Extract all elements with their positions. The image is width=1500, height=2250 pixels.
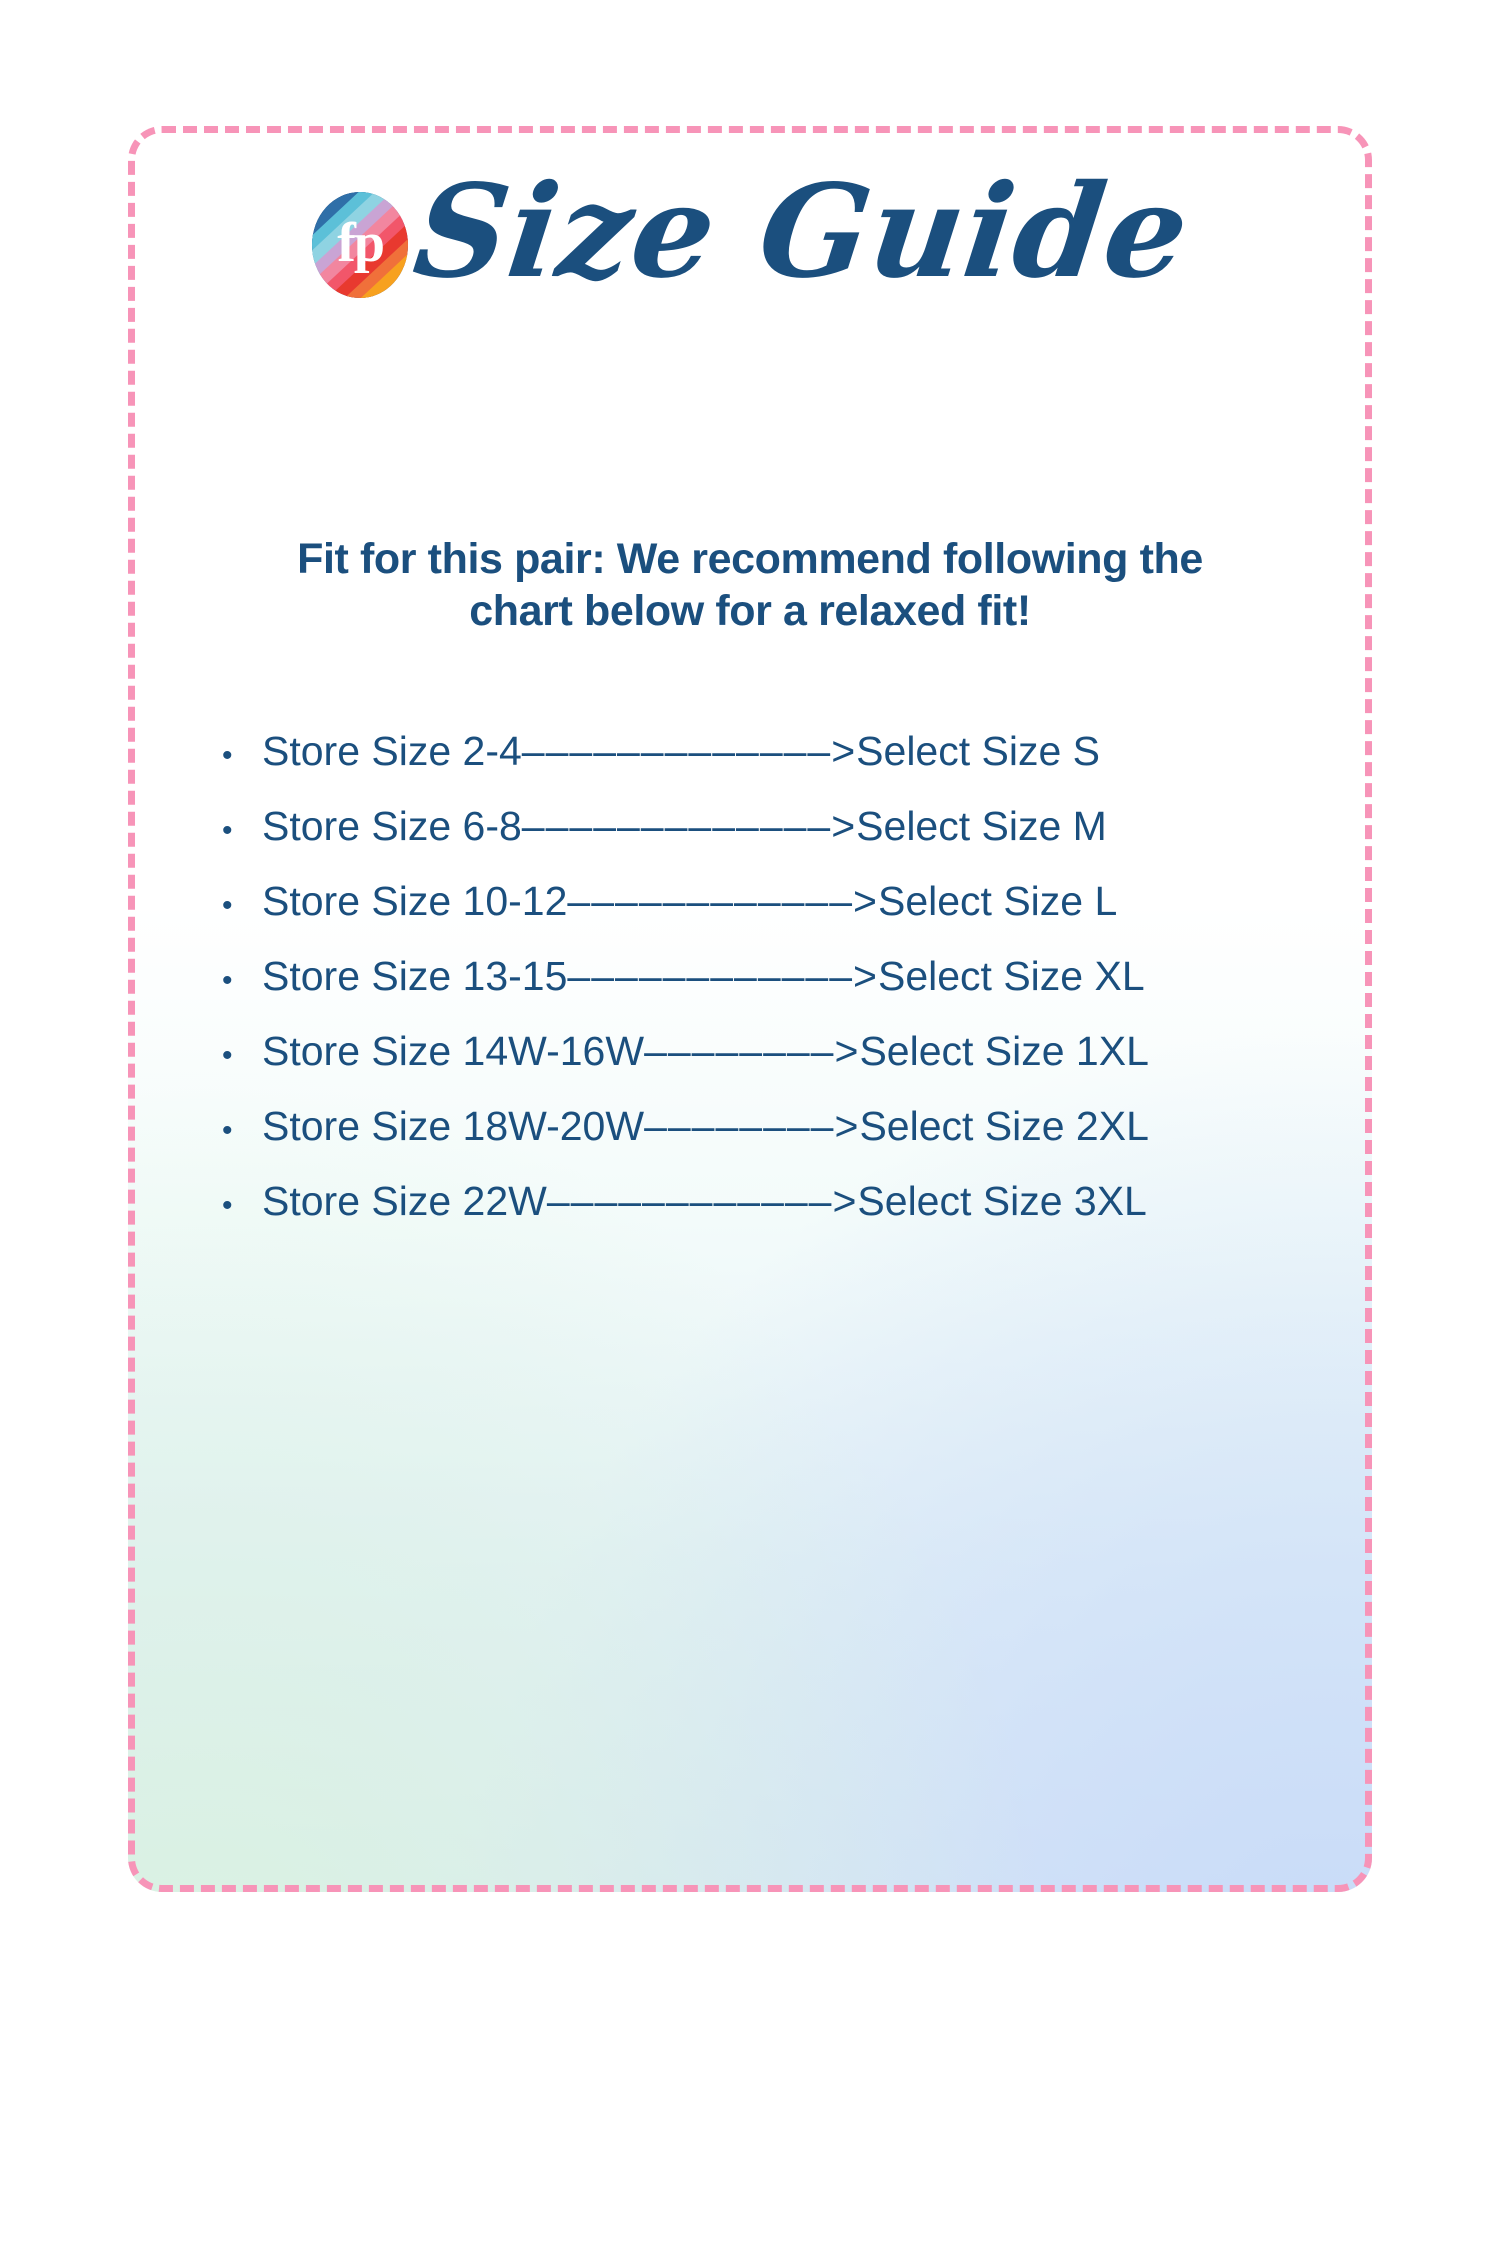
select-size-label: Select Size XL xyxy=(878,939,1145,1014)
dashed-arrow-icon: ––––––––––––> xyxy=(547,1164,858,1239)
store-size-label: Store Size 2-4 xyxy=(262,714,522,789)
page-title: Size Guide xyxy=(408,168,1195,296)
select-size-label: Select Size 2XL xyxy=(859,1089,1148,1164)
subtitle-line-2: chart below for a relaxed fit! xyxy=(190,585,1310,637)
dashed-arrow-icon: ––––––––> xyxy=(644,1089,859,1164)
select-size-label: Select Size M xyxy=(856,789,1107,864)
store-size-label: Store Size 22W xyxy=(262,1164,547,1239)
dashed-arrow-icon: –––––––––––––> xyxy=(522,789,856,864)
bullet-icon: • xyxy=(222,1018,262,1093)
store-size-label: Store Size 13-15 xyxy=(262,939,567,1014)
bullet-icon: • xyxy=(222,718,262,793)
dashed-arrow-icon: ––––––––––––> xyxy=(567,864,878,939)
brand-header: fp Size Guide xyxy=(0,166,1500,298)
bullet-icon: • xyxy=(222,1168,262,1243)
logo-letters: fp xyxy=(312,192,408,298)
select-size-label: Select Size 1XL xyxy=(859,1014,1148,1089)
store-size-label: Store Size 18W-20W xyxy=(262,1089,644,1164)
select-size-label: Select Size L xyxy=(878,864,1117,939)
size-row: •Store Size 22W––––––––––––> Select Size… xyxy=(222,1164,1342,1239)
bullet-icon: • xyxy=(222,793,262,868)
size-row: •Store Size 14W-16W ––––––––> Select Siz… xyxy=(222,1014,1342,1089)
size-row: •Store Size 13-15 ––––––––––––> Select S… xyxy=(222,939,1342,1014)
fp-rainbow-circle-logo-icon: fp xyxy=(312,192,408,298)
size-row: •Store Size 18W-20W ––––––––> Select Siz… xyxy=(222,1089,1342,1164)
bullet-icon: • xyxy=(222,1093,262,1168)
dashed-arrow-icon: ––––––––> xyxy=(644,1014,859,1089)
size-conversion-list: •Store Size 2-4 –––––––––––––> Select Si… xyxy=(222,714,1342,1239)
select-size-label: Select Size 3XL xyxy=(857,1164,1146,1239)
dashed-arrow-icon: ––––––––––––> xyxy=(567,939,878,1014)
fit-recommendation-text: Fit for this pair: We recommend followin… xyxy=(190,533,1310,638)
select-size-label: Select Size S xyxy=(856,714,1100,789)
dashed-arrow-icon: –––––––––––––> xyxy=(522,714,856,789)
bullet-icon: • xyxy=(222,868,262,943)
size-row: •Store Size 2-4 –––––––––––––> Select Si… xyxy=(222,714,1342,789)
size-row: •Store Size 10-12 ––––––––––––> Select S… xyxy=(222,864,1342,939)
store-size-label: Store Size 14W-16W xyxy=(262,1014,644,1089)
store-size-label: Store Size 10-12 xyxy=(262,864,567,939)
bullet-icon: • xyxy=(222,943,262,1018)
store-size-label: Store Size 6-8 xyxy=(262,789,522,864)
size-row: •Store Size 6-8 –––––––––––––> Select Si… xyxy=(222,789,1342,864)
size-guide-page: fp Size Guide Fit for this pair: We reco… xyxy=(0,0,1500,2250)
subtitle-line-1: Fit for this pair: We recommend followin… xyxy=(190,533,1310,585)
